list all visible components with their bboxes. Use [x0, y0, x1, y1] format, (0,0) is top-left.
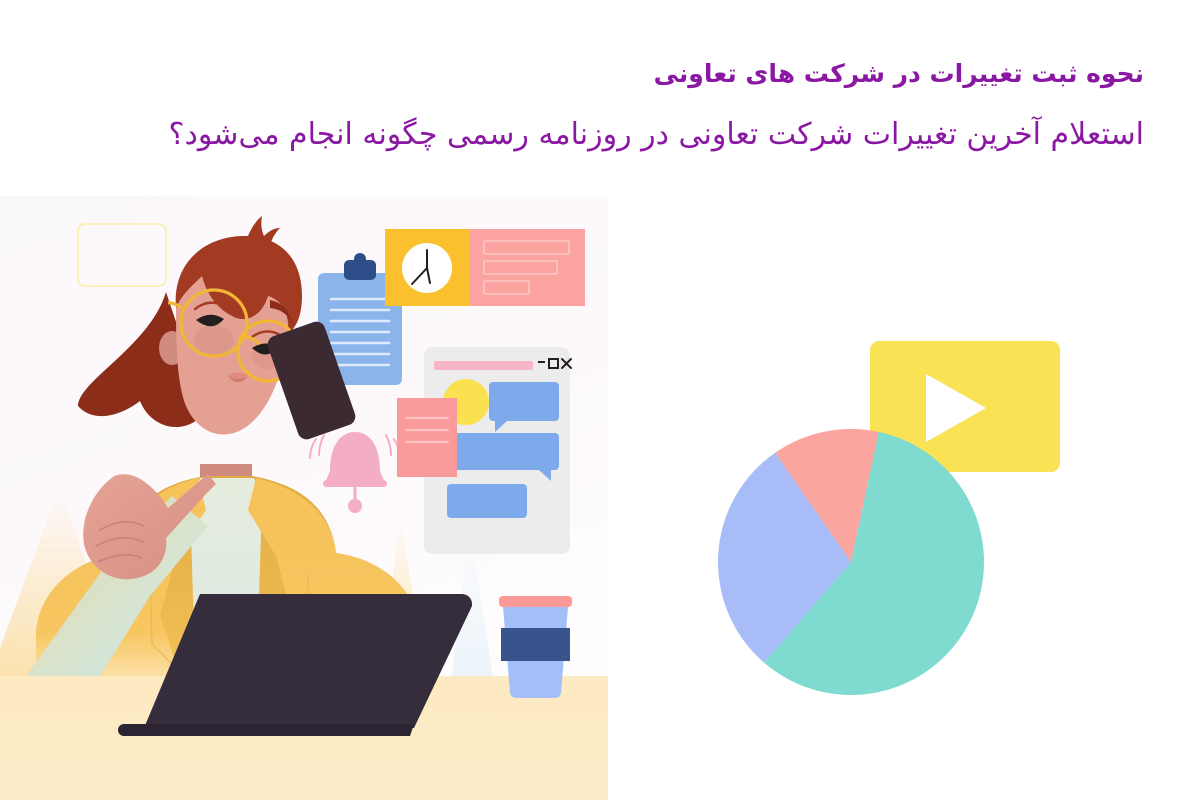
illustration-panel: [0, 196, 608, 800]
illustration-artwork: [0, 196, 608, 800]
header-text-block: نحوه ثبت تغییرات در شرکت های تعاونی استع…: [0, 0, 1200, 190]
window-title-bar: [434, 361, 533, 370]
pie-slices: [718, 429, 984, 695]
pie-chart: [718, 429, 984, 695]
coffee-cup-icon: [499, 596, 572, 698]
page-subtitle: استعلام آخرین تغییرات شرکت تعاونی در روز…: [169, 115, 1144, 154]
minimize-icon: [538, 361, 545, 363]
notification-bell-icon: [310, 432, 400, 513]
page-title: نحوه ثبت تغییرات در شرکت های تعاونی: [654, 58, 1144, 89]
pie-chart-svg: [718, 429, 984, 695]
clock-card-icon: [385, 229, 585, 306]
ghost-card-icon: [78, 224, 166, 286]
pink-note-icon: [397, 398, 457, 477]
